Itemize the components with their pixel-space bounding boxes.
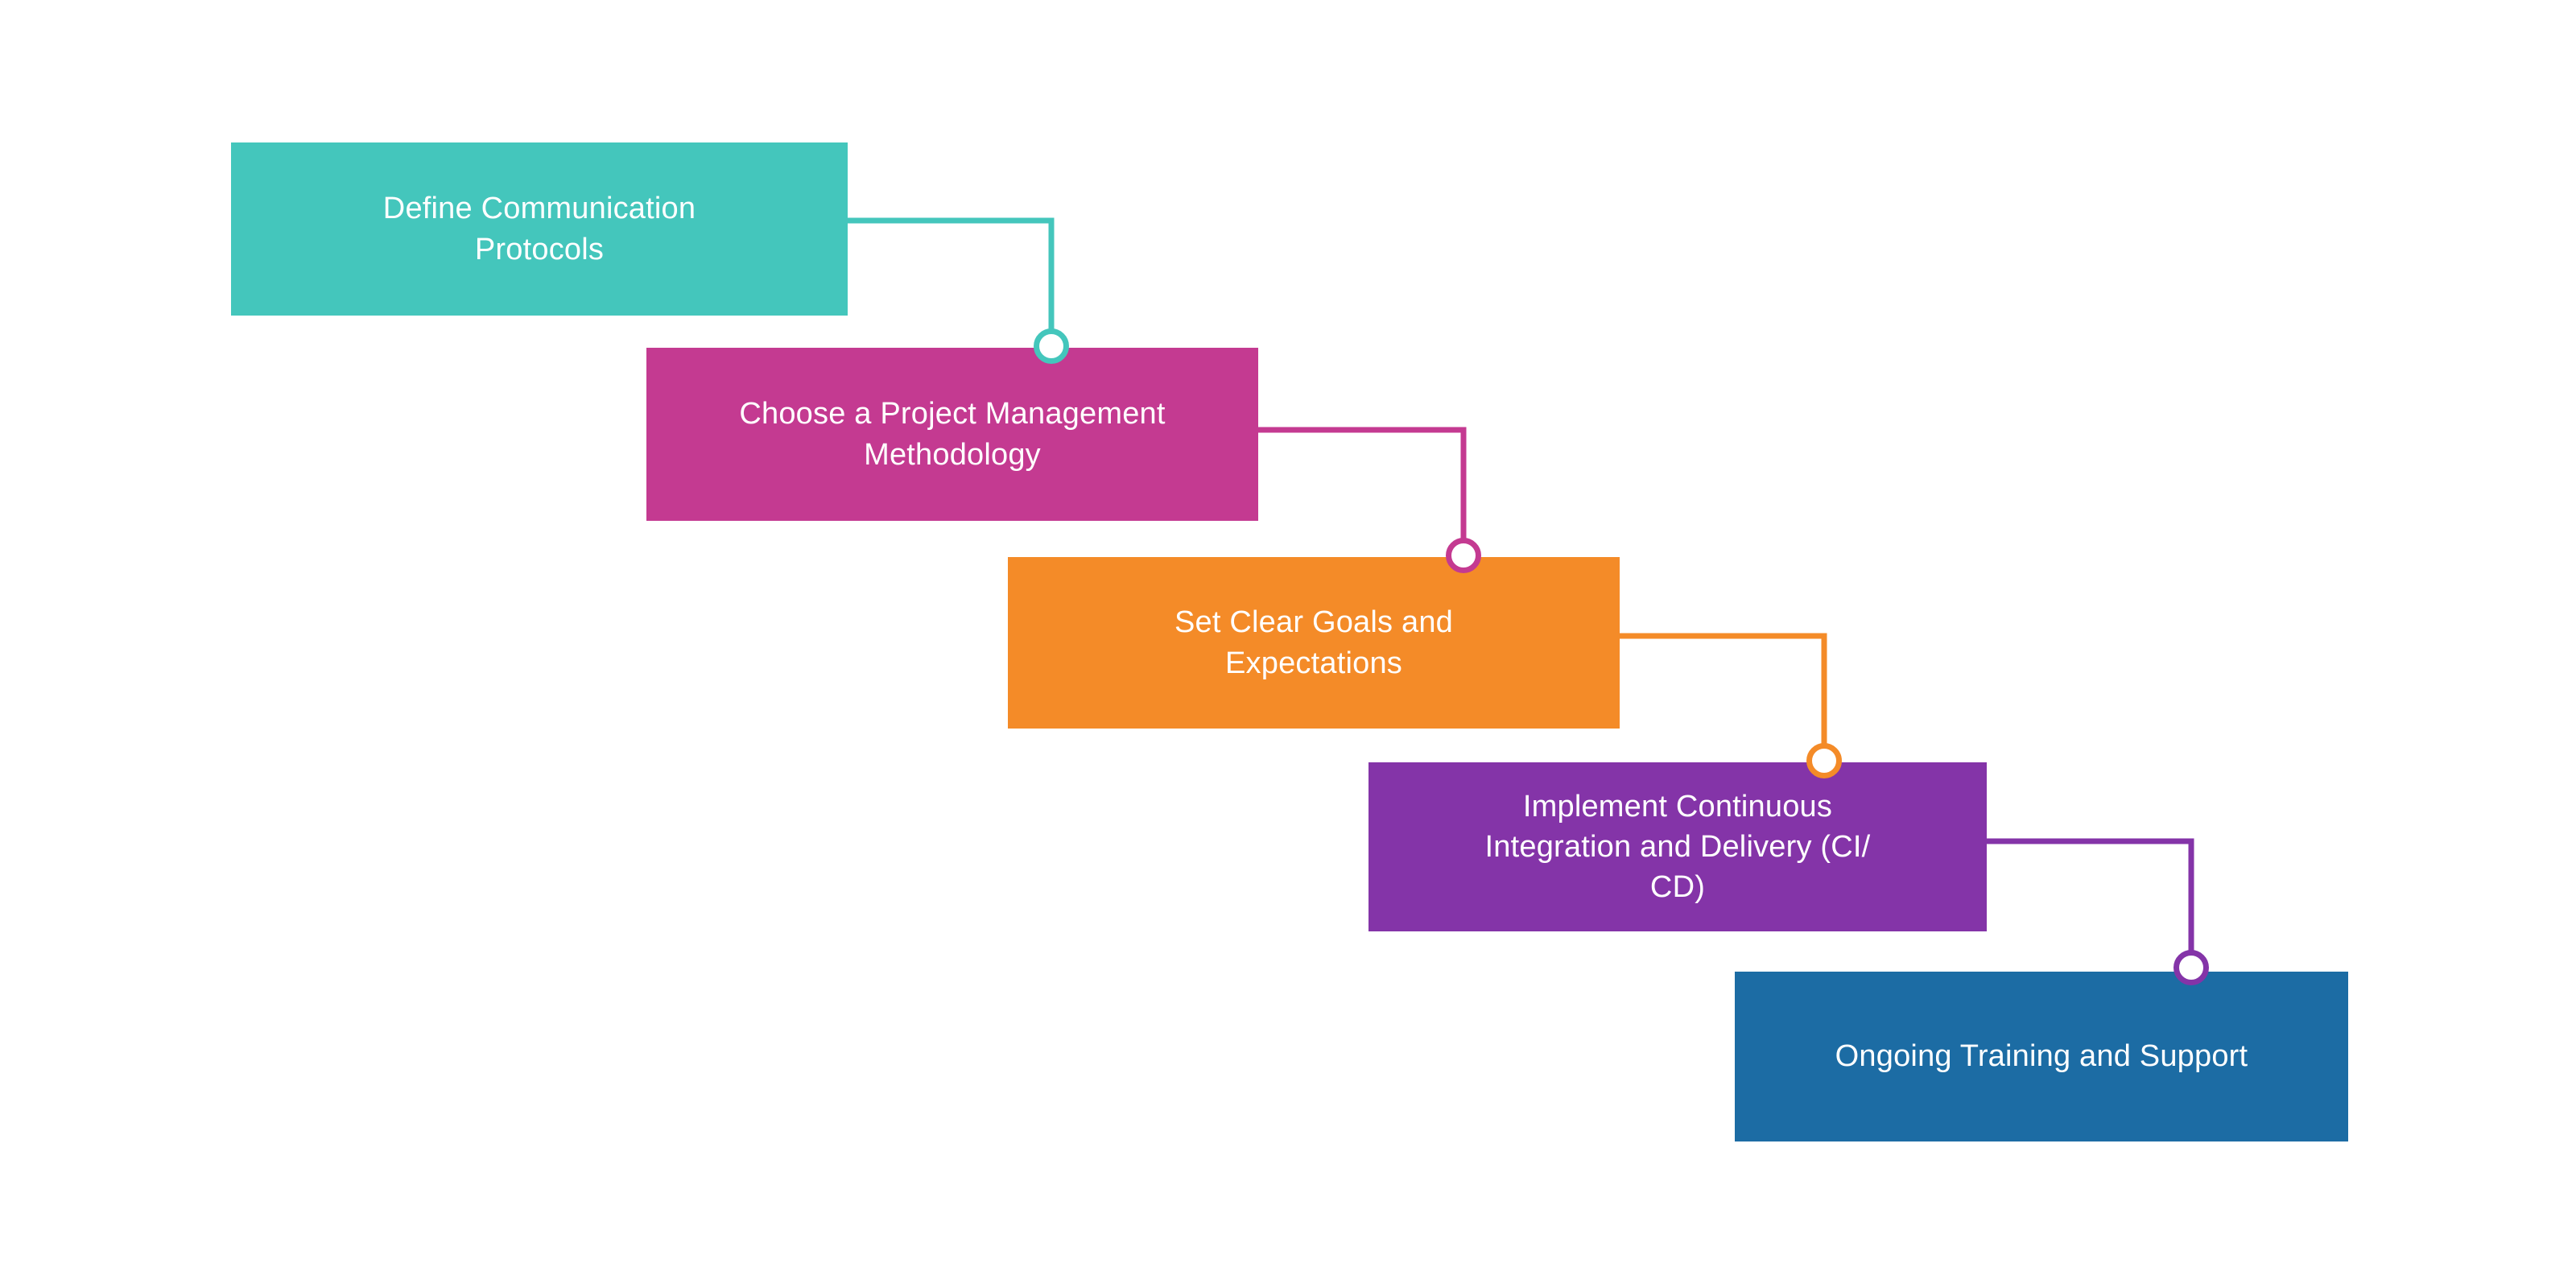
step-box-3[interactable]: Set Clear Goals and Expectations (1008, 557, 1620, 729)
step-box-2[interactable]: Choose a Project Management Methodology (646, 348, 1258, 521)
step-label-2: Choose a Project Management Methodology (671, 394, 1234, 474)
step-label-5: Ongoing Training and Support (1759, 1036, 2324, 1076)
connector-4-5 (1987, 841, 2191, 968)
connector-3-4 (1620, 636, 1824, 761)
connector-4-5-node (2173, 950, 2209, 985)
connector-3-4-node (1806, 743, 1842, 778)
connector-1-2 (848, 221, 1051, 346)
step-box-1[interactable]: Define Communication Protocols (231, 142, 848, 316)
staircase-flow-diagram: Define Communication ProtocolsChoose a P… (0, 0, 2576, 1288)
connector-2-3 (1258, 430, 1463, 555)
connector-1-2-node (1034, 328, 1069, 364)
step-label-1: Define Communication Protocols (255, 188, 824, 269)
step-label-3: Set Clear Goals and Expectations (1032, 602, 1596, 683)
step-box-4[interactable]: Implement Continuous Integration and Del… (1368, 762, 1987, 931)
step-box-5[interactable]: Ongoing Training and Support (1735, 972, 2348, 1141)
step-label-4: Implement Continuous Integration and Del… (1393, 786, 1963, 907)
connector-2-3-node (1446, 538, 1481, 573)
